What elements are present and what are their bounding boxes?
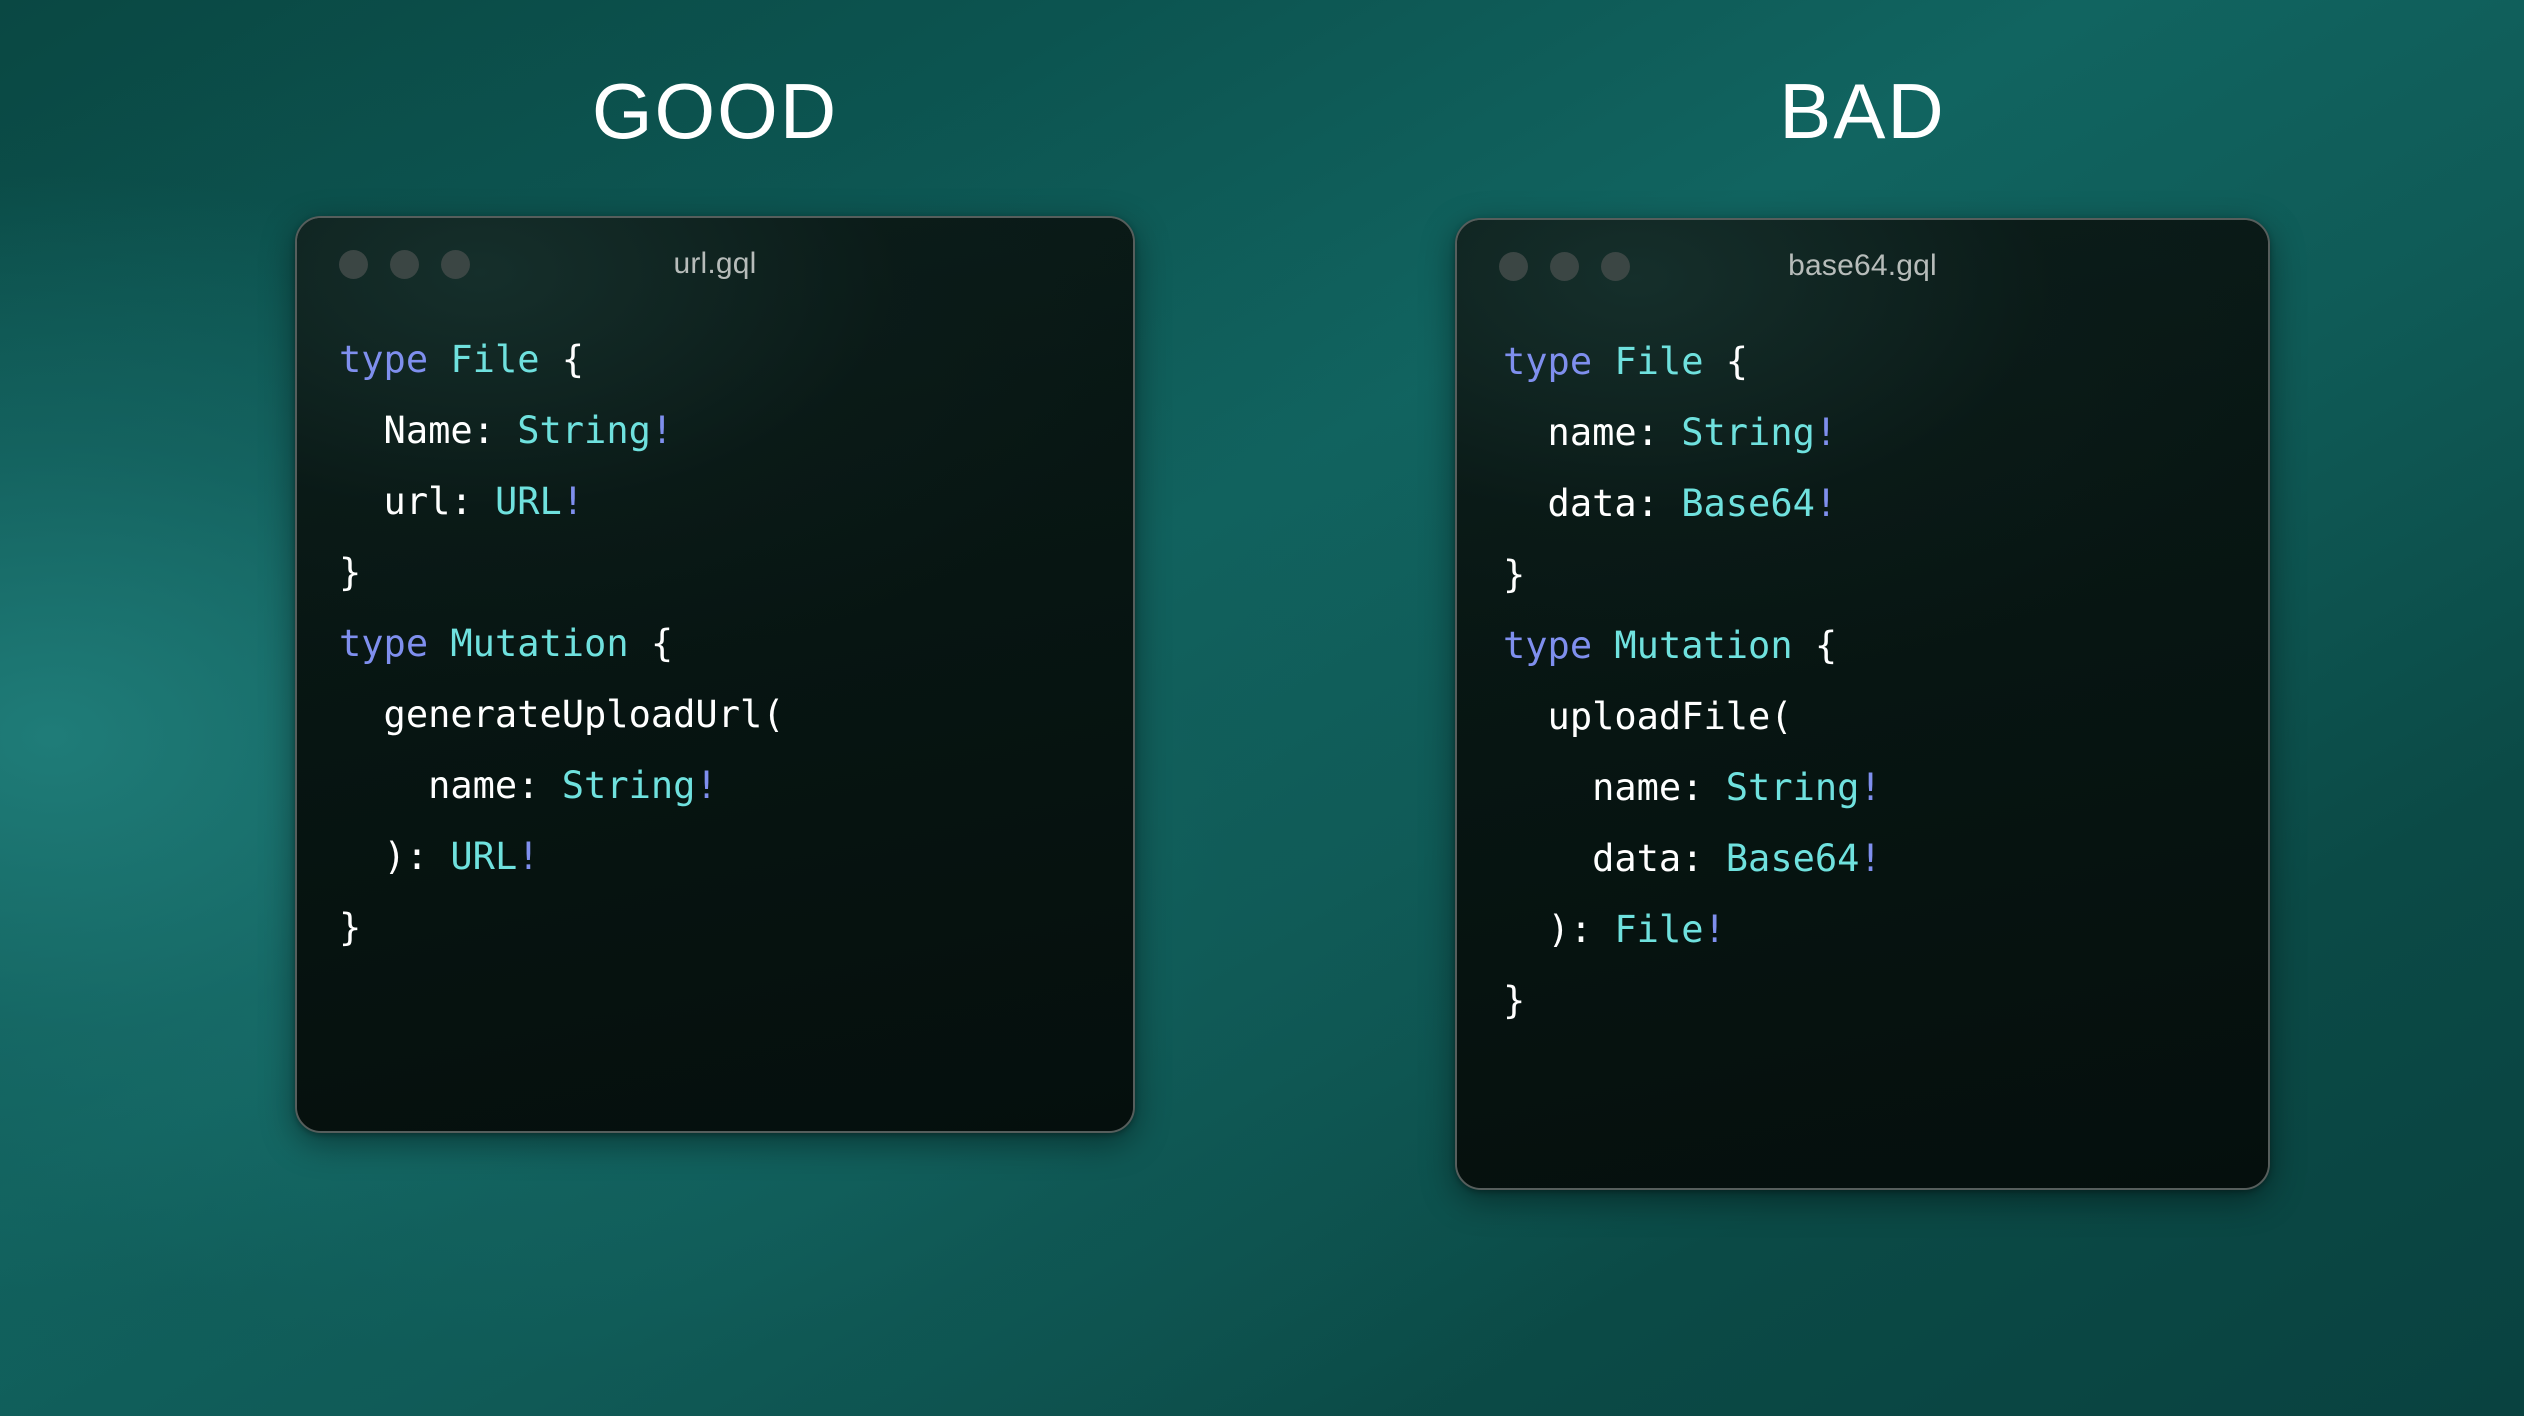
titlebar-bad: base64.gql bbox=[1457, 220, 2268, 312]
zoom-dot-icon[interactable] bbox=[441, 250, 470, 279]
code-token-bang: ! bbox=[1859, 837, 1881, 880]
code-token-bang: ! bbox=[1859, 766, 1881, 809]
code-line: type Mutation { bbox=[1503, 610, 2268, 681]
code-token-type: String bbox=[517, 409, 651, 452]
code-line: } bbox=[339, 892, 1133, 963]
close-dot-icon[interactable] bbox=[1499, 252, 1528, 281]
code-token-field: name: bbox=[1503, 411, 1681, 454]
code-token-punct: { bbox=[1704, 340, 1749, 383]
code-token-field: uploadFile( bbox=[1503, 695, 1793, 738]
code-token-type: File bbox=[1614, 340, 1703, 383]
code-window-good: url.gql type File { Name: String! url: U… bbox=[295, 216, 1135, 1133]
code-token-punct: ): bbox=[1503, 908, 1614, 951]
code-window-bad-surface: base64.gql type File { name: String! dat… bbox=[1457, 220, 2268, 1188]
close-dot-icon[interactable] bbox=[339, 250, 368, 279]
code-line: generateUploadUrl( bbox=[339, 679, 1133, 750]
code-block-bad: type File { name: String! data: Base64!}… bbox=[1457, 312, 2268, 1036]
code-token-field: generateUploadUrl( bbox=[339, 693, 785, 736]
code-line: type File { bbox=[1503, 326, 2268, 397]
code-line: name: String! bbox=[339, 750, 1133, 821]
code-token-field: url: bbox=[339, 480, 495, 523]
traffic-lights-bad bbox=[1499, 252, 1630, 281]
code-token-field: name: bbox=[339, 764, 562, 807]
code-line: ): URL! bbox=[339, 821, 1133, 892]
code-token-bang: ! bbox=[517, 835, 539, 878]
minimize-dot-icon[interactable] bbox=[1550, 252, 1579, 281]
code-token-punct: ): bbox=[339, 835, 450, 878]
code-window-good-surface: url.gql type File { Name: String! url: U… bbox=[297, 218, 1133, 1131]
zoom-dot-icon[interactable] bbox=[1601, 252, 1630, 281]
code-token-punct bbox=[1592, 624, 1614, 667]
code-token-type: Base64 bbox=[1726, 837, 1860, 880]
code-token-punct: } bbox=[339, 906, 361, 949]
code-token-type: String bbox=[562, 764, 696, 807]
code-token-kw: type bbox=[339, 338, 428, 381]
code-line: } bbox=[339, 537, 1133, 608]
code-token-punct: { bbox=[540, 338, 585, 381]
traffic-lights-good bbox=[339, 250, 470, 279]
code-block-good: type File { Name: String! url: URL!}type… bbox=[297, 310, 1133, 963]
code-token-punct: } bbox=[1503, 553, 1525, 596]
code-line: uploadFile( bbox=[1503, 681, 2268, 752]
code-line: name: String! bbox=[1503, 752, 2268, 823]
code-line: name: String! bbox=[1503, 397, 2268, 468]
code-token-punct bbox=[1592, 340, 1614, 383]
code-token-bang: ! bbox=[1815, 411, 1837, 454]
code-line: } bbox=[1503, 539, 2268, 610]
minimize-dot-icon[interactable] bbox=[390, 250, 419, 279]
code-token-kw: type bbox=[1503, 340, 1592, 383]
code-line: data: Base64! bbox=[1503, 823, 2268, 894]
code-token-type: Mutation bbox=[1614, 624, 1792, 667]
code-token-punct: { bbox=[1793, 624, 1838, 667]
column-heading-good: GOOD bbox=[295, 72, 1135, 150]
code-token-field: name: bbox=[1503, 766, 1726, 809]
code-line: type File { bbox=[339, 324, 1133, 395]
code-token-punct: { bbox=[629, 622, 674, 665]
code-token-type: String bbox=[1726, 766, 1860, 809]
code-token-type: Base64 bbox=[1681, 482, 1815, 525]
code-token-type: File bbox=[1614, 908, 1703, 951]
code-line: data: Base64! bbox=[1503, 468, 2268, 539]
column-heading-bad: BAD bbox=[1455, 72, 2270, 150]
code-token-type: File bbox=[450, 338, 539, 381]
code-token-type: URL bbox=[450, 835, 517, 878]
code-line: ): File! bbox=[1503, 894, 2268, 965]
code-token-bang: ! bbox=[651, 409, 673, 452]
code-token-punct: } bbox=[1503, 979, 1525, 1022]
code-token-bang: ! bbox=[562, 480, 584, 523]
code-token-bang: ! bbox=[695, 764, 717, 807]
code-line: type Mutation { bbox=[339, 608, 1133, 679]
code-token-punct: } bbox=[339, 551, 361, 594]
code-token-field: data: bbox=[1503, 837, 1726, 880]
code-token-type: Mutation bbox=[450, 622, 628, 665]
code-token-punct bbox=[428, 338, 450, 381]
code-token-bang: ! bbox=[1704, 908, 1726, 951]
code-token-field: data: bbox=[1503, 482, 1681, 525]
code-line: Name: String! bbox=[339, 395, 1133, 466]
comparison-stage: GOOD url.gql type File { Name: String! u… bbox=[0, 0, 2524, 1416]
code-token-field: Name: bbox=[339, 409, 517, 452]
code-token-type: URL bbox=[495, 480, 562, 523]
code-token-kw: type bbox=[1503, 624, 1592, 667]
code-line: } bbox=[1503, 965, 2268, 1036]
code-token-bang: ! bbox=[1815, 482, 1837, 525]
titlebar-good: url.gql bbox=[297, 218, 1133, 310]
code-token-punct bbox=[428, 622, 450, 665]
code-token-type: String bbox=[1681, 411, 1815, 454]
code-line: url: URL! bbox=[339, 466, 1133, 537]
code-token-kw: type bbox=[339, 622, 428, 665]
code-window-bad: base64.gql type File { name: String! dat… bbox=[1455, 218, 2270, 1190]
